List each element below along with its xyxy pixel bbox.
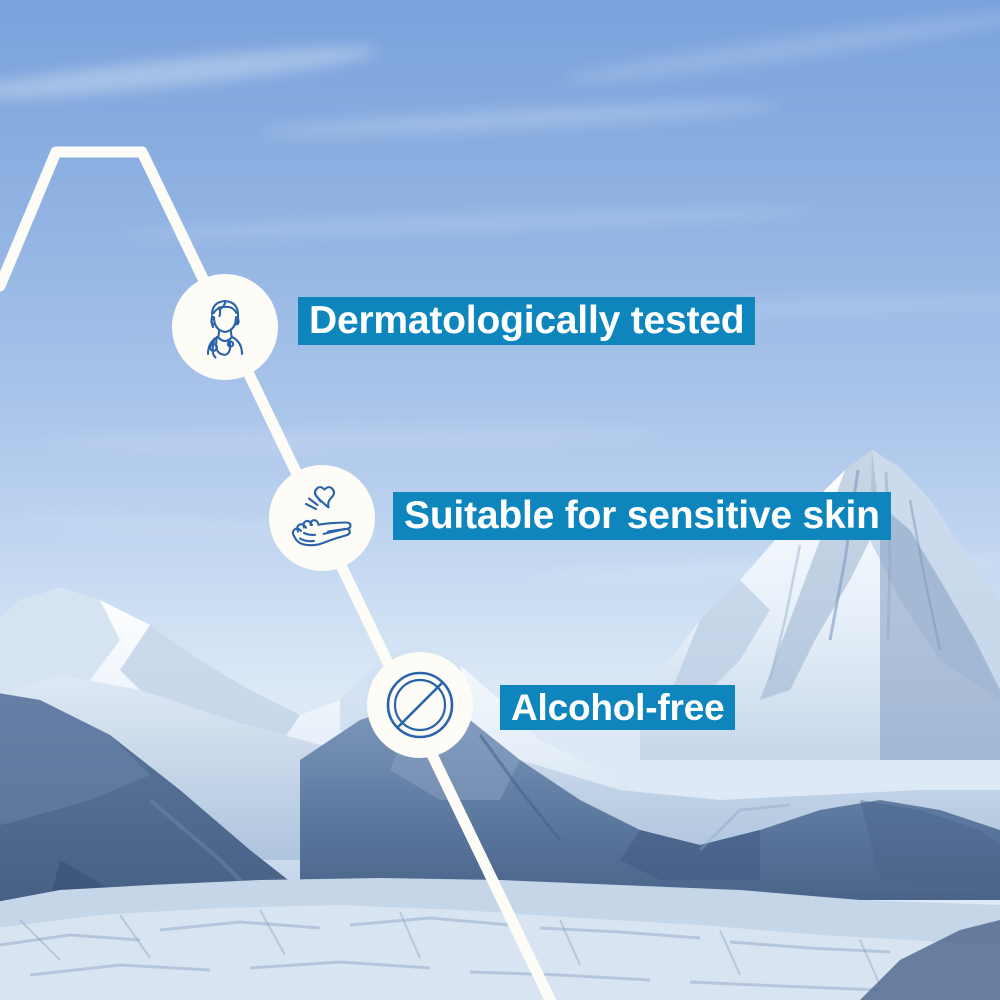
benefit-label-suitable-for-sensitive-skin: Suitable for sensitive skin [393, 492, 891, 540]
no-alcohol-icon [380, 665, 460, 745]
hand-heart-icon [282, 478, 362, 558]
benefit-badge-alcohol-free[interactable] [367, 652, 473, 758]
benefit-label-alcohol-free: Alcohol-free [500, 685, 735, 730]
benefit-badge-suitable-for-sensitive-skin[interactable] [269, 465, 375, 571]
promo-graphic: Dermatologically tested Suitable for sen… [0, 0, 1000, 1000]
doctor-icon [188, 290, 262, 364]
benefit-label-dermatologically-tested: Dermatologically tested [298, 297, 755, 345]
benefit-badge-dermatologically-tested[interactable] [172, 274, 278, 380]
